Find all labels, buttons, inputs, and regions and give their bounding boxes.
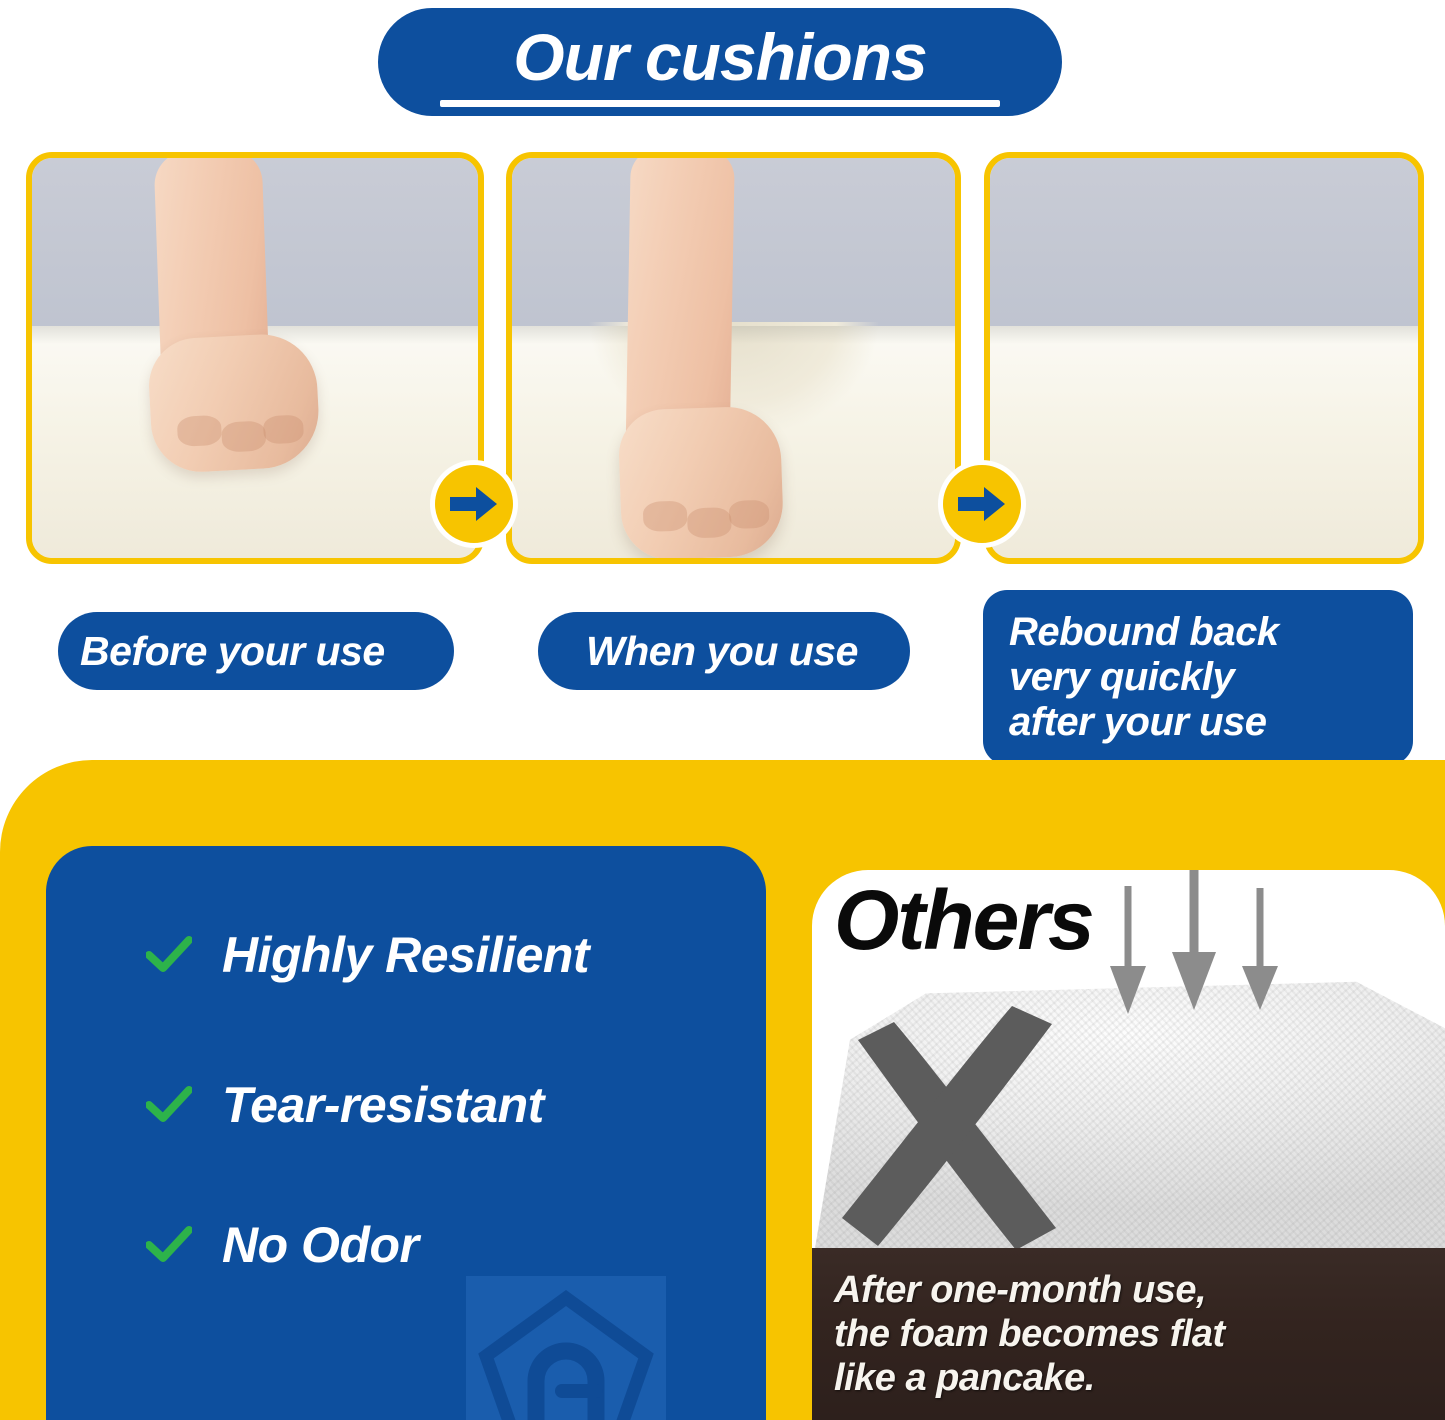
- knuckle-shape: [221, 420, 267, 452]
- right-arrow-icon: [450, 484, 498, 524]
- comparison-section: Highly Resilient Tear-resistant No Odor: [0, 760, 1445, 1420]
- x-cross-icon: [820, 988, 1110, 1288]
- step-label-text: Before your use: [80, 628, 385, 675]
- step-arrow-badge-1: [430, 460, 518, 548]
- step-label-before-use: Before your use: [58, 612, 454, 690]
- photo-row: [0, 152, 1445, 564]
- check-icon: [146, 936, 192, 974]
- step-label-text: When you use: [586, 628, 858, 675]
- step-label-line-3: after your use: [1009, 700, 1267, 745]
- pentagon-house-a-logo-icon: [466, 1276, 686, 1420]
- photo-foam-surface-restored: [990, 326, 1418, 558]
- benefit-item-tear-resistant: Tear-resistant: [146, 1076, 544, 1134]
- benefit-item-no-odor: No Odor: [146, 1216, 418, 1274]
- right-arrow-icon: [958, 484, 1006, 524]
- downward-pressure-arrows-icon: [1102, 870, 1292, 1030]
- photo-after-rebound: [984, 152, 1424, 564]
- others-caption: After one-month use, the foam becomes fl…: [812, 1248, 1445, 1420]
- photo-when-using: [506, 152, 961, 564]
- foam-edge-shadow: [990, 326, 1418, 344]
- benefit-item-highly-resilient: Highly Resilient: [146, 926, 589, 984]
- step-label-when-using: When you use: [538, 612, 910, 690]
- caption-line-2: the foam becomes flat: [834, 1312, 1445, 1356]
- check-icon: [146, 1086, 192, 1124]
- photo-wall-background: [990, 158, 1418, 326]
- others-title: Others: [834, 878, 1093, 962]
- benefit-label: Highly Resilient: [222, 926, 589, 984]
- photo-before-use: [26, 152, 484, 564]
- benefit-label: Tear-resistant: [222, 1076, 544, 1134]
- step-label-line-1: Rebound back: [1009, 610, 1279, 655]
- step-arrow-badge-2: [938, 460, 1026, 548]
- step-label-line-2: very quickly: [1009, 655, 1234, 700]
- foam-edge-shadow: [512, 326, 955, 344]
- caption-line-1: After one-month use,: [834, 1268, 1445, 1312]
- knuckle-shape: [729, 500, 770, 529]
- fist-shape: [617, 405, 784, 561]
- check-icon: [146, 1226, 192, 1264]
- title-underline: [440, 100, 1000, 107]
- caption-line-3: like a pancake.: [834, 1356, 1445, 1400]
- knuckle-shape: [263, 414, 304, 444]
- knuckle-shape: [643, 501, 688, 533]
- others-comparison-card: Others After one-month use, the foam bec…: [812, 870, 1445, 1420]
- knuckle-shape: [687, 507, 732, 539]
- knuckle-shape: [177, 415, 223, 447]
- fist-shape: [147, 332, 322, 475]
- step-label-rebound: Rebound back very quickly after your use: [983, 590, 1413, 765]
- page-title: Our cushions: [513, 24, 926, 90]
- benefit-label: No Odor: [222, 1216, 418, 1274]
- infographic-page: Our cushions: [0, 0, 1445, 1420]
- page-title-banner: Our cushions: [378, 8, 1062, 116]
- benefits-panel: Highly Resilient Tear-resistant No Odor: [46, 846, 766, 1420]
